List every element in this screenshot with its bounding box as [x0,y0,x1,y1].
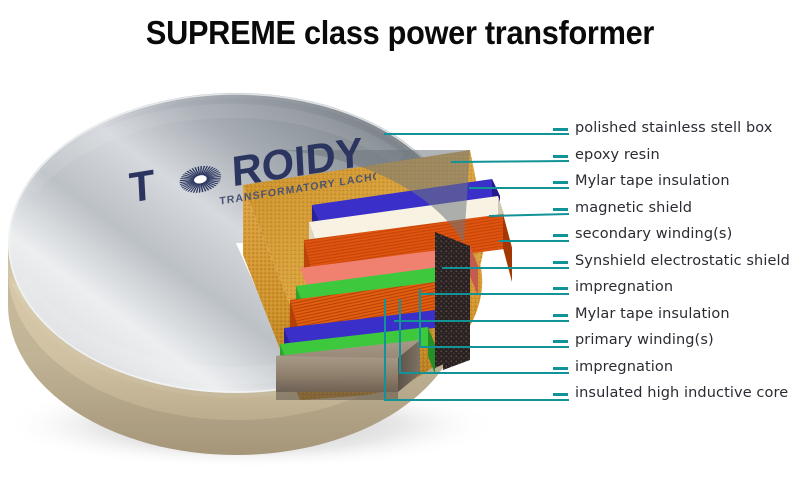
callout-2: epoxy resin [553,145,800,172]
callout-dash-icon [553,287,568,290]
callout-7: impregnation [553,277,800,304]
callout-label: Synshield electrostatic shield [575,251,790,271]
callout-label: epoxy resin [575,145,660,165]
callout-dash-icon [553,155,568,158]
callout-label: impregnation [575,357,673,377]
callout-1: polished stainless stell box [553,118,800,145]
callout-label: Mylar tape insulation [575,304,730,324]
callout-dash-icon [553,234,568,237]
callout-label: polished stainless stell box [575,118,772,138]
callout-dash-icon [553,314,568,317]
callout-dash-icon [553,393,568,396]
callout-4: magnetic shield [553,198,800,225]
toroid-sunburst-icon [179,163,222,196]
callout-5: secondary winding(s) [553,224,800,251]
callout-8: Mylar tape insulation [553,304,800,331]
callout-dash-icon [553,340,568,343]
callout-label: insulated high inductive core [575,383,788,403]
callout-label: impregnation [575,277,673,297]
callout-dash-icon [553,367,568,370]
callout-3: Mylar tape insulation [553,171,800,198]
callout-label: primary winding(s) [575,330,714,350]
toroidy-brand-logo: T ROIDY TRANSFORMATORY LACHOWSKI [118,138,376,214]
callout-dash-icon [553,208,568,211]
callout-label: magnetic shield [575,198,692,218]
layer-impregnation [435,232,470,370]
callout-10: impregnation [553,357,800,384]
diagram-page: SUPREME class power transformer [0,0,800,489]
callout-dash-icon [553,261,568,264]
callout-label-list: polished stainless stell box epoxy resin… [553,118,800,410]
callout-dash-icon [553,181,568,184]
callout-6: Synshield electrostatic shield [553,251,800,278]
callout-11: insulated high inductive core [553,383,800,410]
logo-letter-t: T [128,161,156,212]
callout-dash-icon [553,128,568,131]
callout-label: Mylar tape insulation [575,171,730,191]
callout-label: secondary winding(s) [575,224,732,244]
leader-line-2 [452,161,568,162]
callout-9: primary winding(s) [553,330,800,357]
